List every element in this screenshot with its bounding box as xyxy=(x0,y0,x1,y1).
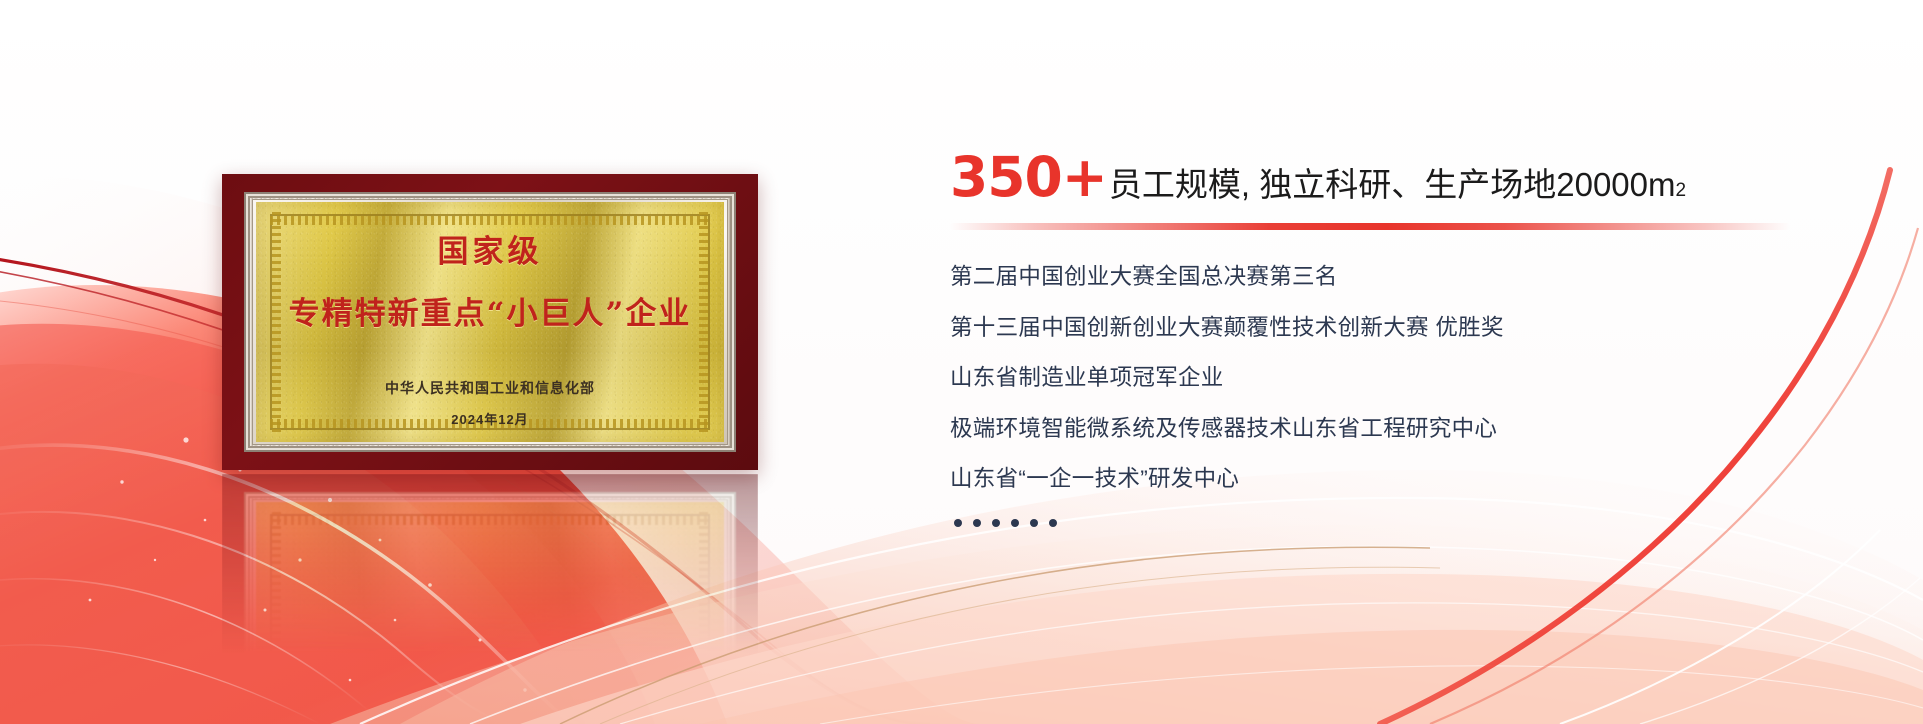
headline-superscript: 2 xyxy=(1676,180,1687,202)
content-column: 350+ 员工规模, 独立科研、生产场地20000m 2 第二届中国创业大赛全国… xyxy=(950,150,1830,527)
plaque-title-line1: 国家级 xyxy=(438,226,543,271)
headline: 350+ 员工规模, 独立科研、生产场地20000m 2 xyxy=(950,150,1830,205)
ellipsis-dot xyxy=(973,519,981,527)
plaque-title-line2: 专精特新重点“小巨人”企业 xyxy=(289,288,692,333)
awards-list: 第二届中国创业大赛全国总决赛第三名 第十三届中国创新创业大赛颠覆性技术创新大赛 … xyxy=(950,266,1830,527)
plaque-reflection-inner-frame xyxy=(270,514,710,704)
headline-number: 350+ xyxy=(950,150,1107,205)
ellipsis-dot xyxy=(992,519,1000,527)
plaque-reflection-silver xyxy=(244,492,736,704)
award-item: 山东省制造业单项冠军企业 xyxy=(950,367,1830,390)
plaque-reflection-gold xyxy=(256,502,724,704)
award-item: 第二届中国创业大赛全国总决赛第三名 xyxy=(950,266,1830,289)
award-item: 第十三届中国创新创业大赛颠覆性技术创新大赛 优胜奖 xyxy=(950,317,1830,340)
ellipsis-dots xyxy=(954,519,1830,527)
award-plaque: 国家级 专精特新重点“小巨人”企业 中华人民共和国工业和信息化部 2024年12… xyxy=(222,174,758,470)
promo-banner: 国家级 专精特新重点“小巨人”企业 中华人民共和国工业和信息化部 2024年12… xyxy=(0,0,1923,724)
plaque-reflection xyxy=(222,474,758,704)
wave-peach-2 xyxy=(330,525,1923,724)
ellipsis-dot xyxy=(1049,519,1057,527)
plaque-reflection-silver-inner xyxy=(252,499,728,704)
headline-text: 员工规模, 独立科研、生产场地20000m xyxy=(1109,168,1676,201)
plaque-frame: 国家级 专精特新重点“小巨人”企业 中华人民共和国工业和信息化部 2024年12… xyxy=(222,174,758,470)
plaque-date: 2024年12月 xyxy=(451,409,528,428)
plaque-text-block: 国家级 专精特新重点“小巨人”企业 中华人民共和国工业和信息化部 2024年12… xyxy=(222,174,758,470)
award-item: 山东省“一企一技术”研发中心 xyxy=(950,468,1830,491)
award-item: 极端环境智能微系统及传感器技术山东省工程研究中心 xyxy=(950,418,1830,441)
plaque-reflection-texture xyxy=(256,502,724,704)
plaque-issuer: 中华人民共和国工业和信息化部 xyxy=(385,378,595,398)
plaque-reflection-frame-left xyxy=(272,512,281,704)
plaque-reflection-frame-right xyxy=(699,512,708,704)
plaque-reflection-frame xyxy=(222,474,758,704)
headline-divider xyxy=(950,223,1790,230)
ellipsis-dot xyxy=(1030,519,1038,527)
ellipsis-dot xyxy=(954,519,962,527)
ellipsis-dot xyxy=(1011,519,1019,527)
